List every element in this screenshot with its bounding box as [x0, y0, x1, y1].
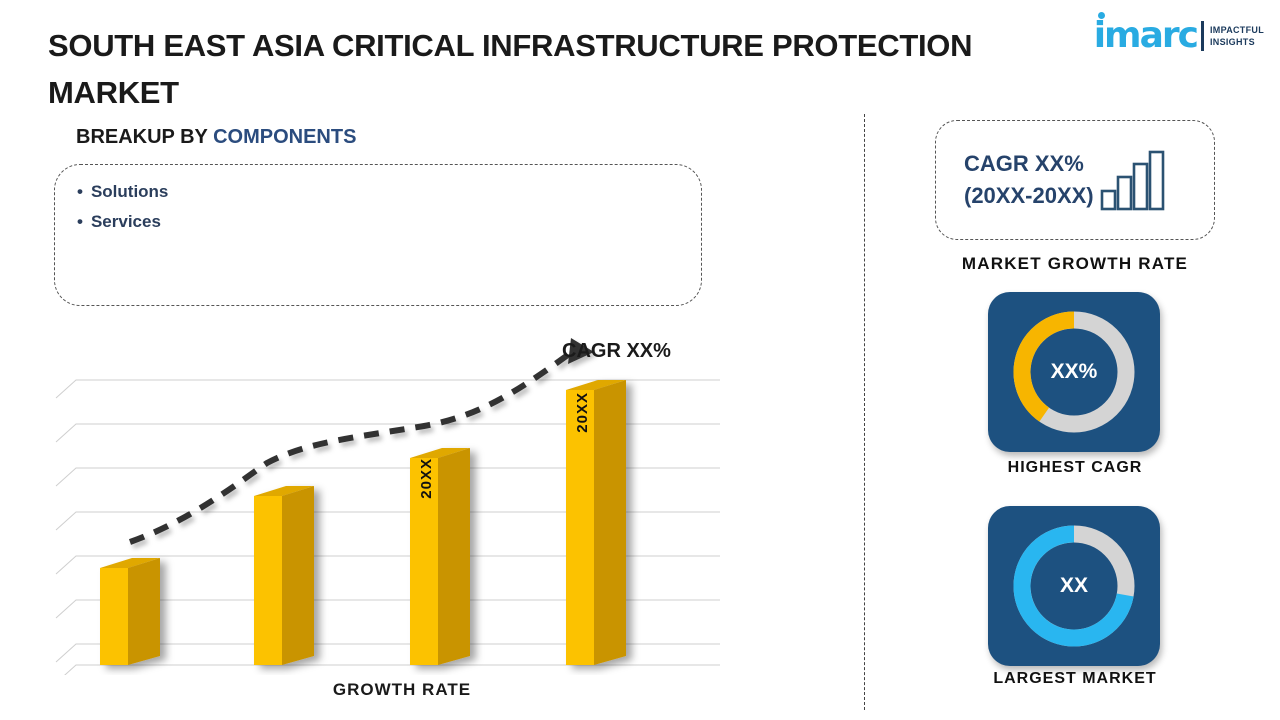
list-item: Solutions — [77, 177, 168, 207]
highest-cagr-donut — [988, 292, 1160, 452]
bar-column-1 — [100, 558, 160, 665]
growth-rate-chart: 20XX 20XX GROWTH RATE — [52, 330, 752, 710]
breakup-heading: BREAKUP BY COMPONENTS — [76, 126, 356, 149]
logo-tagline: IMPACTFUL INSIGHTS — [1210, 24, 1264, 48]
bar-label-4: 20XX — [574, 392, 591, 433]
page-title: SOUTH EAST ASIA CRITICAL INFRASTRUCTURE … — [48, 22, 1058, 116]
list-item: Services — [77, 207, 168, 237]
market-growth-rate-box: CAGR XX% (20XX-20XX) — [935, 120, 1215, 240]
bar-chart-icon — [1100, 149, 1166, 211]
components-list: Solutions Services — [77, 177, 168, 237]
cagr-line1: CAGR XX% — [964, 148, 1094, 180]
largest-market-caption: LARGEST MARKET — [875, 670, 1275, 688]
chart-xlabel: GROWTH RATE — [52, 680, 752, 700]
breakup-heading-prefix: BREAKUP BY — [76, 126, 213, 148]
bar-label-3: 20XX — [418, 458, 435, 499]
highest-cagr-caption: HIGHEST CAGR — [875, 459, 1275, 477]
trend-arrow — [130, 338, 594, 542]
logo-word-text: imarc — [1094, 15, 1197, 56]
bar-column-2 — [254, 486, 314, 665]
imarc-logo: imarc IMPACTFUL INSIGHTS — [1094, 14, 1264, 58]
market-growth-rate-caption: MARKET GROWTH RATE — [875, 254, 1275, 274]
logo-divider — [1201, 21, 1204, 51]
cagr-text: CAGR XX% (20XX-20XX) — [964, 148, 1094, 212]
breakup-heading-accent: COMPONENTS — [213, 126, 356, 148]
largest-market-card: XX — [988, 506, 1160, 666]
logo-tagline-line1: IMPACTFUL — [1210, 24, 1264, 36]
highest-cagr-card: XX% — [988, 292, 1160, 452]
largest-market-donut — [988, 506, 1160, 666]
chart-cagr-annotation: CAGR XX% — [562, 340, 671, 363]
chart-svg — [52, 330, 752, 675]
logo-tagline-line2: INSIGHTS — [1210, 36, 1264, 48]
logo-wordmark: imarc — [1094, 18, 1197, 54]
components-box: Solutions Services — [54, 164, 702, 306]
vertical-divider — [864, 114, 865, 710]
cagr-line2: (20XX-20XX) — [964, 180, 1094, 212]
logo-dot-icon — [1098, 12, 1105, 19]
